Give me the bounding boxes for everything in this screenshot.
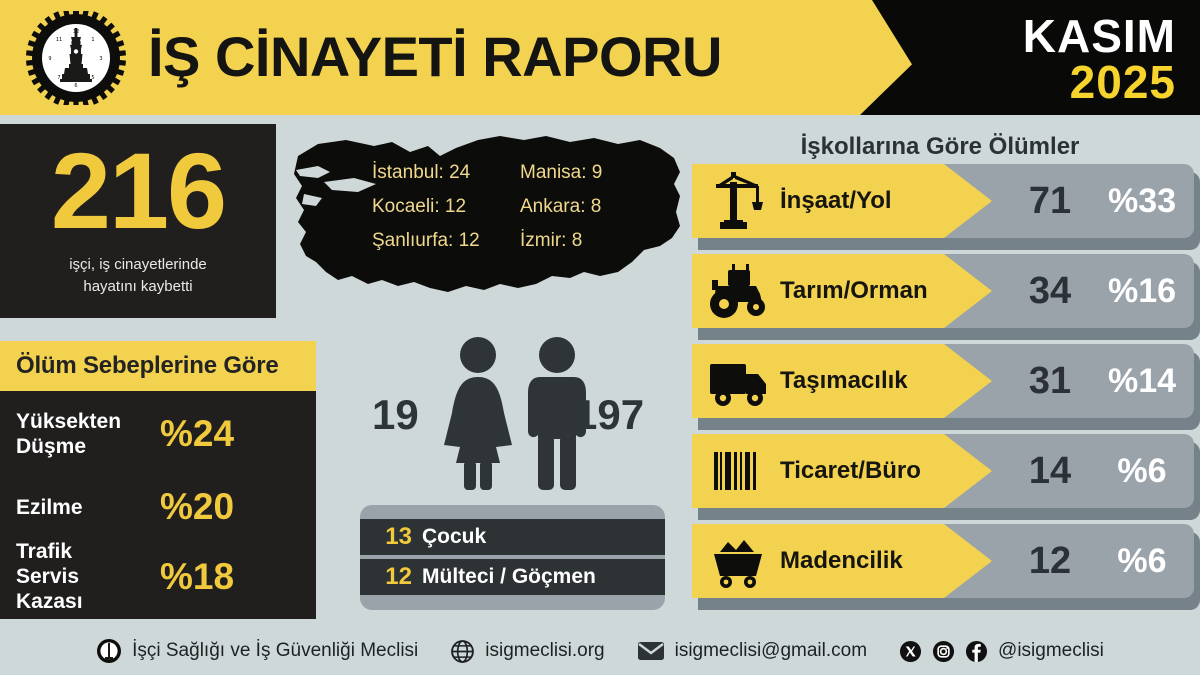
cause-row-yuksekten-dusme: Yüksekten Düşme %24 — [0, 409, 316, 459]
total-deaths-caption-line1: işçi, iş cinayetlerinde — [14, 254, 262, 276]
city-item: Ankara: 8 — [520, 196, 660, 218]
sector-count: 14 — [1004, 434, 1096, 508]
sector-bar-madencilik: Madencilik 12 %6 — [692, 524, 1200, 606]
turkey-map-panel: İstanbul: 24 Manisa: 9 Kocaeli: 12 Ankar… — [288, 126, 688, 316]
cause-label-line2: Servis — [16, 564, 160, 589]
sector-label: Tarım/Orman — [780, 254, 928, 328]
city-death-list: İstanbul: 24 Manisa: 9 Kocaeli: 12 Ankar… — [372, 162, 672, 252]
header-banner: 121 35 67 911 — [0, 0, 1200, 115]
special-group-count: 13 — [360, 523, 422, 551]
sector-label: Ticaret/Büro — [780, 434, 921, 508]
total-deaths-number: 216 — [0, 132, 276, 250]
report-month: KASIM — [1023, 12, 1176, 60]
cause-label-line1: Yüksekten — [16, 409, 160, 434]
cause-label-line3: Kazası — [16, 589, 160, 614]
globe-icon — [450, 639, 475, 664]
city-item: İstanbul: 24 — [372, 162, 520, 184]
city-item: Şanlıurfa: 12 — [372, 230, 520, 252]
svg-text:11: 11 — [56, 37, 62, 43]
cause-label: Ezilme — [0, 495, 160, 520]
total-deaths-panel: 216 işçi, iş cinayetlerinde hayatını kay… — [0, 124, 276, 318]
report-year: 2025 — [1070, 58, 1176, 106]
sector-label: Madencilik — [780, 524, 903, 598]
envelope-icon — [637, 640, 665, 662]
sector-bar-insaat-yol: İnşaat/Yol 71 %33 — [692, 164, 1200, 246]
sector-count: 31 — [1004, 344, 1096, 418]
isig-clock-tower-gear-logo-icon: 121 35 67 911 — [22, 11, 130, 105]
svg-text:6: 6 — [74, 83, 77, 89]
isig-logo-icon — [96, 638, 122, 664]
svg-text:9: 9 — [48, 56, 51, 62]
cause-percent: %18 — [160, 557, 300, 597]
causes-panel-header: Ölüm Sebeplerine Göre — [0, 341, 316, 391]
cause-label-line1: Trafik — [16, 539, 160, 564]
mine-cart-icon — [706, 530, 770, 592]
gender-breakdown: 19 197 — [350, 335, 680, 505]
special-group-label: Çocuk — [422, 525, 486, 549]
causes-panel: Ölüm Sebeplerine Göre Yüksekten Düşme %2… — [0, 341, 316, 619]
footer-website[interactable]: isigmeclisi.org — [485, 640, 604, 662]
tractor-icon — [706, 260, 770, 322]
special-group-row-multeci: 12 Mülteci / Göçmen — [360, 559, 665, 595]
cause-row-trafik-servis-kazasi: Trafik Servis Kazası %18 — [0, 539, 316, 614]
svg-text:3: 3 — [99, 56, 102, 62]
sector-bar-tasimacilik: Taşımacılık 31 %14 — [692, 344, 1200, 426]
svg-text:1: 1 — [91, 37, 94, 43]
special-groups-panel: 13 Çocuk 12 Mülteci / Göçmen — [360, 505, 665, 610]
page-title: İŞ CİNAYETİ RAPORU — [148, 19, 722, 95]
female-figure-icon — [438, 335, 518, 490]
infographic-canvas: 121 35 67 911 — [0, 0, 1200, 675]
footer-social-handle[interactable]: @isigmeclisi — [998, 640, 1104, 662]
footer-email[interactable]: isigmeclisi@gmail.com — [675, 640, 867, 662]
sector-bar-tarim-orman: Tarım/Orman 34 %16 — [692, 254, 1200, 336]
male-death-count: 197 — [574, 391, 644, 439]
sector-bar-ticaret-buro: Ticaret/Büro 14 %6 — [692, 434, 1200, 516]
sector-label: İnşaat/Yol — [780, 164, 892, 238]
cause-percent: %20 — [160, 487, 300, 527]
special-group-row-cocuk: 13 Çocuk — [360, 519, 665, 555]
sectors-title: İşkollarına Göre Ölümler — [680, 133, 1200, 161]
cause-percent: %24 — [160, 414, 300, 454]
causes-panel-title: Ölüm Sebeplerine Göre — [16, 352, 279, 380]
crane-icon — [706, 170, 770, 232]
sector-percent: %6 — [1090, 434, 1194, 508]
cause-label: Yüksekten Düşme — [0, 409, 160, 459]
cause-row-ezilme: Ezilme %20 — [0, 487, 316, 527]
cause-label: Trafik Servis Kazası — [0, 539, 160, 614]
city-item: Kocaeli: 12 — [372, 196, 520, 218]
footer-bar: İşçi Sağlığı ve İş Güvenliği Meclisi isi… — [0, 627, 1200, 675]
female-death-count: 19 — [372, 391, 419, 439]
sector-percent: %6 — [1090, 524, 1194, 598]
cause-label-line1: Ezilme — [16, 495, 160, 520]
truck-icon — [706, 350, 770, 412]
city-item: Manisa: 9 — [520, 162, 660, 184]
special-group-label: Mülteci / Göçmen — [422, 565, 596, 589]
sector-count: 34 — [1004, 254, 1096, 328]
special-group-count: 12 — [360, 563, 422, 591]
city-item: İzmir: 8 — [520, 230, 660, 252]
total-deaths-caption-line2: hayatını kaybetti — [14, 276, 262, 298]
sector-percent: %16 — [1090, 254, 1194, 328]
facebook-icon[interactable] — [965, 640, 988, 663]
sector-count: 71 — [1004, 164, 1096, 238]
x-twitter-icon[interactable] — [899, 640, 922, 663]
footer-org-name: İşçi Sağlığı ve İş Güvenliği Meclisi — [132, 640, 418, 662]
sector-percent: %14 — [1090, 344, 1194, 418]
sector-count: 12 — [1004, 524, 1096, 598]
barcode-icon — [706, 440, 770, 502]
cause-label-line2: Düşme — [16, 434, 160, 459]
sector-percent: %33 — [1090, 164, 1194, 238]
total-deaths-caption: işçi, iş cinayetlerinde hayatını kaybett… — [14, 254, 262, 298]
instagram-icon[interactable] — [932, 640, 955, 663]
sector-label: Taşımacılık — [780, 344, 908, 418]
